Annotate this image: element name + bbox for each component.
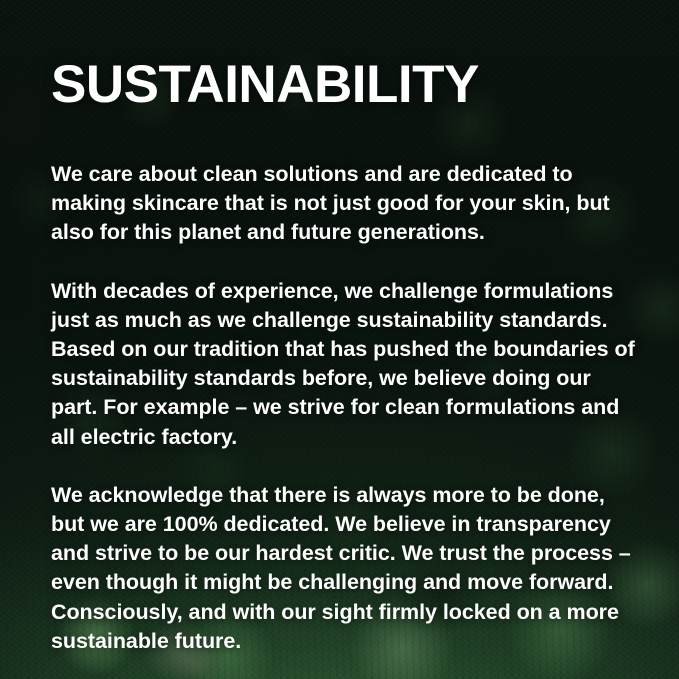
page-title: SUSTAINABILITY [51,58,479,111]
body-copy: We care about clean solutions and are de… [51,160,643,656]
paragraph-3: We acknowledge that there is always more… [51,481,643,656]
sustainability-poster: SUSTAINABILITY We care about clean solut… [0,0,679,679]
paragraph-1: We care about clean solutions and are de… [51,160,643,248]
poster-content: SUSTAINABILITY We care about clean solut… [51,0,643,679]
paragraph-2: With decades of experience, we challenge… [51,277,643,452]
